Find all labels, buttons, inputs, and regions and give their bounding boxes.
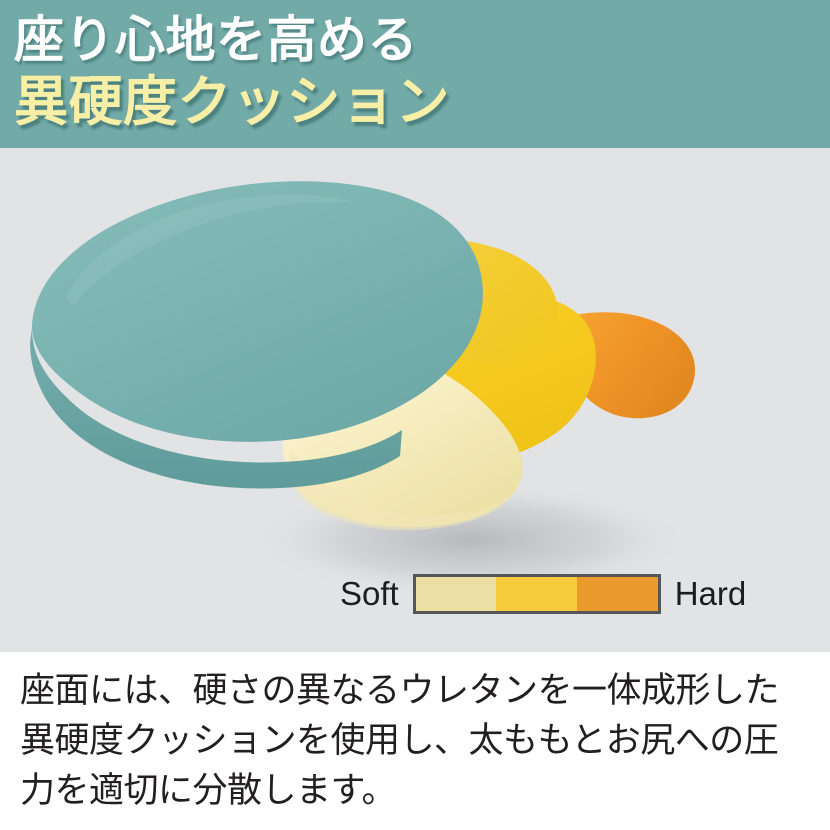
- caption-block: 座面には、硬さの異なるウレタンを一体成形した異硬度クッションを使用し、太ももとお…: [0, 652, 830, 830]
- header-title-line-2: 異硬度クッション: [14, 70, 450, 134]
- legend-segment-soft: [416, 577, 497, 611]
- legend-label-hard: Hard: [675, 574, 747, 614]
- cushion-illustration: Soft Hard: [0, 148, 830, 652]
- caption-text: 座面には、硬さの異なるウレタンを一体成形した異硬度クッションを使用し、太ももとお…: [20, 666, 808, 816]
- header-title-line-1: 座り心地を高める: [14, 10, 418, 70]
- hardness-legend: Soft Hard: [340, 566, 790, 622]
- legend-label-soft: Soft: [340, 574, 399, 614]
- legend-segment-hard: [577, 577, 658, 611]
- legend-segment-medium: [496, 577, 577, 611]
- product-feature-panel: 座り心地を高める 異硬度クッション: [0, 0, 830, 830]
- legend-gradient-bar: [413, 574, 661, 614]
- header-banner: 座り心地を高める 異硬度クッション: [0, 0, 830, 148]
